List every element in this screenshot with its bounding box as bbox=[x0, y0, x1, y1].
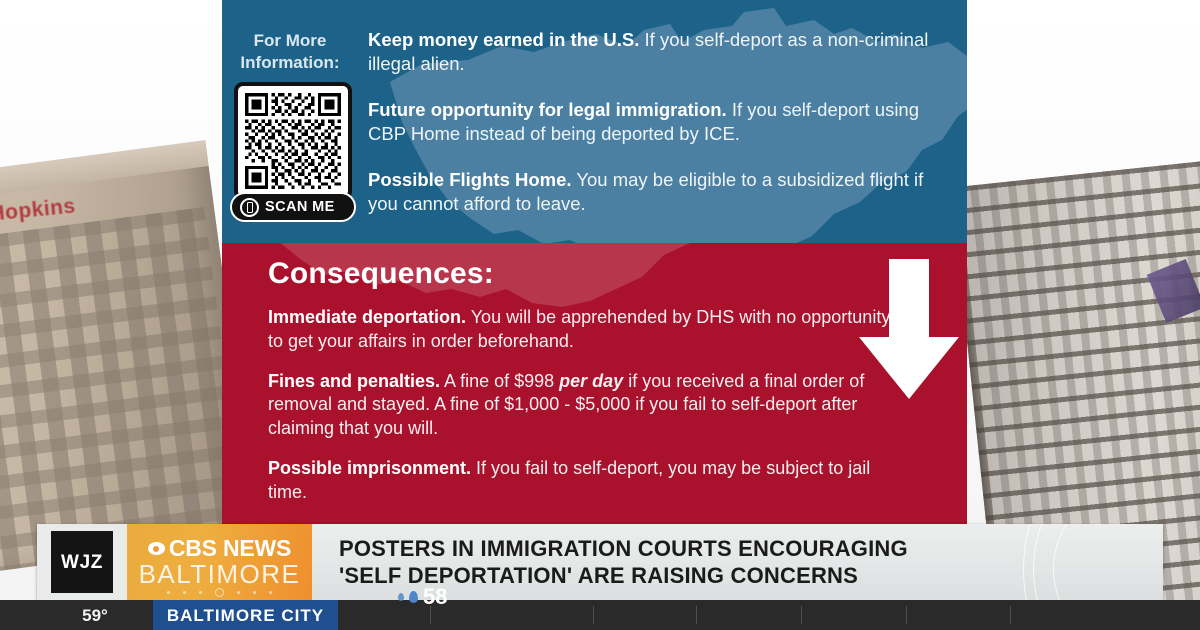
consequence-item: Possible imprisonment. If you fail to se… bbox=[268, 457, 908, 505]
station-logo-cell: WJZ bbox=[37, 524, 127, 600]
consequence-body-part1: A fine of $998 bbox=[440, 371, 559, 391]
dot bbox=[183, 591, 186, 594]
consequence-lead: Fines and penalties. bbox=[268, 371, 440, 391]
qr-code-block[interactable]: SCAN ME bbox=[234, 82, 352, 222]
qr-code-icon[interactable] bbox=[234, 82, 352, 200]
qr-side-label-line1: For More bbox=[230, 30, 350, 52]
phone-icon bbox=[240, 198, 259, 217]
dot bbox=[269, 591, 272, 594]
qr-side-label: For More Information: bbox=[230, 30, 350, 74]
weather-bar-dividers bbox=[338, 600, 1200, 630]
benefit-item: Keep money earned in the U.S. If you sel… bbox=[368, 28, 956, 76]
raindrop-icon bbox=[398, 593, 404, 601]
cbs-news-label: CBS NEWS bbox=[169, 537, 291, 560]
news-lower-third: WJZ CBS NEWS BALTIMORE bbox=[37, 524, 1163, 600]
consequence-lead: Immediate deportation. bbox=[268, 307, 466, 327]
benefit-lead: Possible Flights Home. bbox=[368, 169, 572, 190]
immigration-poster: picking your departure flight. For More … bbox=[222, 0, 967, 526]
benefits-content: picking your departure flight. For More … bbox=[222, 0, 967, 243]
consequence-item: Immediate deportation. You will be appre… bbox=[268, 306, 908, 354]
cbs-eye-icon bbox=[148, 542, 165, 555]
scan-me-label: SCAN ME bbox=[265, 200, 335, 215]
benefit-lead: Future opportunity for legal immigration… bbox=[368, 99, 727, 120]
benefit-item: Possible Flights Home. You may be eligib… bbox=[368, 168, 956, 216]
station-call-letters: WJZ bbox=[61, 553, 103, 572]
consequences-title: Consequences: bbox=[268, 257, 908, 290]
consequence-lead: Possible imprisonment. bbox=[268, 458, 471, 478]
headline-line-1: POSTERS IN IMMIGRATION COURTS ENCOURAGIN… bbox=[339, 535, 1153, 563]
weather-bar: 59° BALTIMORE CITY bbox=[0, 600, 1200, 630]
consequence-item: Fines and penalties. A fine of $998 per … bbox=[268, 370, 908, 441]
broadcast-screenshot: 2 Hopkins picking your departure flight.… bbox=[0, 0, 1200, 630]
dot bbox=[199, 591, 202, 594]
headline-cell: POSTERS IN IMMIGRATION COURTS ENCOURAGIN… bbox=[312, 524, 1163, 600]
ring-dot bbox=[215, 588, 224, 597]
headline-line-2: 'SELF DEPORTATION' ARE RAISING CONCERNS bbox=[339, 562, 1153, 590]
poster-consequences-section: Consequences: Immediate deportation. You… bbox=[222, 243, 967, 526]
consequence-emphasis: per day bbox=[559, 371, 623, 391]
scan-me-badge[interactable]: SCAN ME bbox=[230, 192, 356, 222]
benefits-list: Keep money earned in the U.S. If you sel… bbox=[368, 0, 956, 229]
divider bbox=[801, 606, 802, 624]
dot bbox=[237, 591, 240, 594]
market-label: BALTIMORE bbox=[139, 561, 301, 588]
raindrop-icon bbox=[409, 591, 418, 603]
dot bbox=[253, 591, 256, 594]
consequences-content: Consequences: Immediate deportation. You… bbox=[268, 257, 908, 520]
divider bbox=[696, 606, 697, 624]
benefit-item: Future opportunity for legal immigration… bbox=[368, 98, 956, 146]
wjz-logo: WJZ bbox=[51, 531, 113, 593]
divider bbox=[1010, 606, 1011, 624]
dot bbox=[167, 591, 170, 594]
network-brand-cell: CBS NEWS BALTIMORE bbox=[127, 524, 312, 600]
building-windows bbox=[0, 207, 248, 574]
weather-temperature: 59° bbox=[37, 607, 153, 624]
weather-location: BALTIMORE CITY bbox=[153, 600, 338, 630]
benefit-lead: Keep money earned in the U.S. bbox=[368, 29, 639, 50]
poster-benefits-section: picking your departure flight. For More … bbox=[222, 0, 967, 243]
cbs-news-line: CBS NEWS bbox=[148, 537, 291, 560]
divider bbox=[593, 606, 594, 624]
brand-dot-decoration bbox=[127, 588, 312, 596]
building-sign-text: 2 Hopkins bbox=[0, 196, 77, 227]
qr-side-label-line2: Information: bbox=[230, 52, 350, 74]
divider bbox=[906, 606, 907, 624]
